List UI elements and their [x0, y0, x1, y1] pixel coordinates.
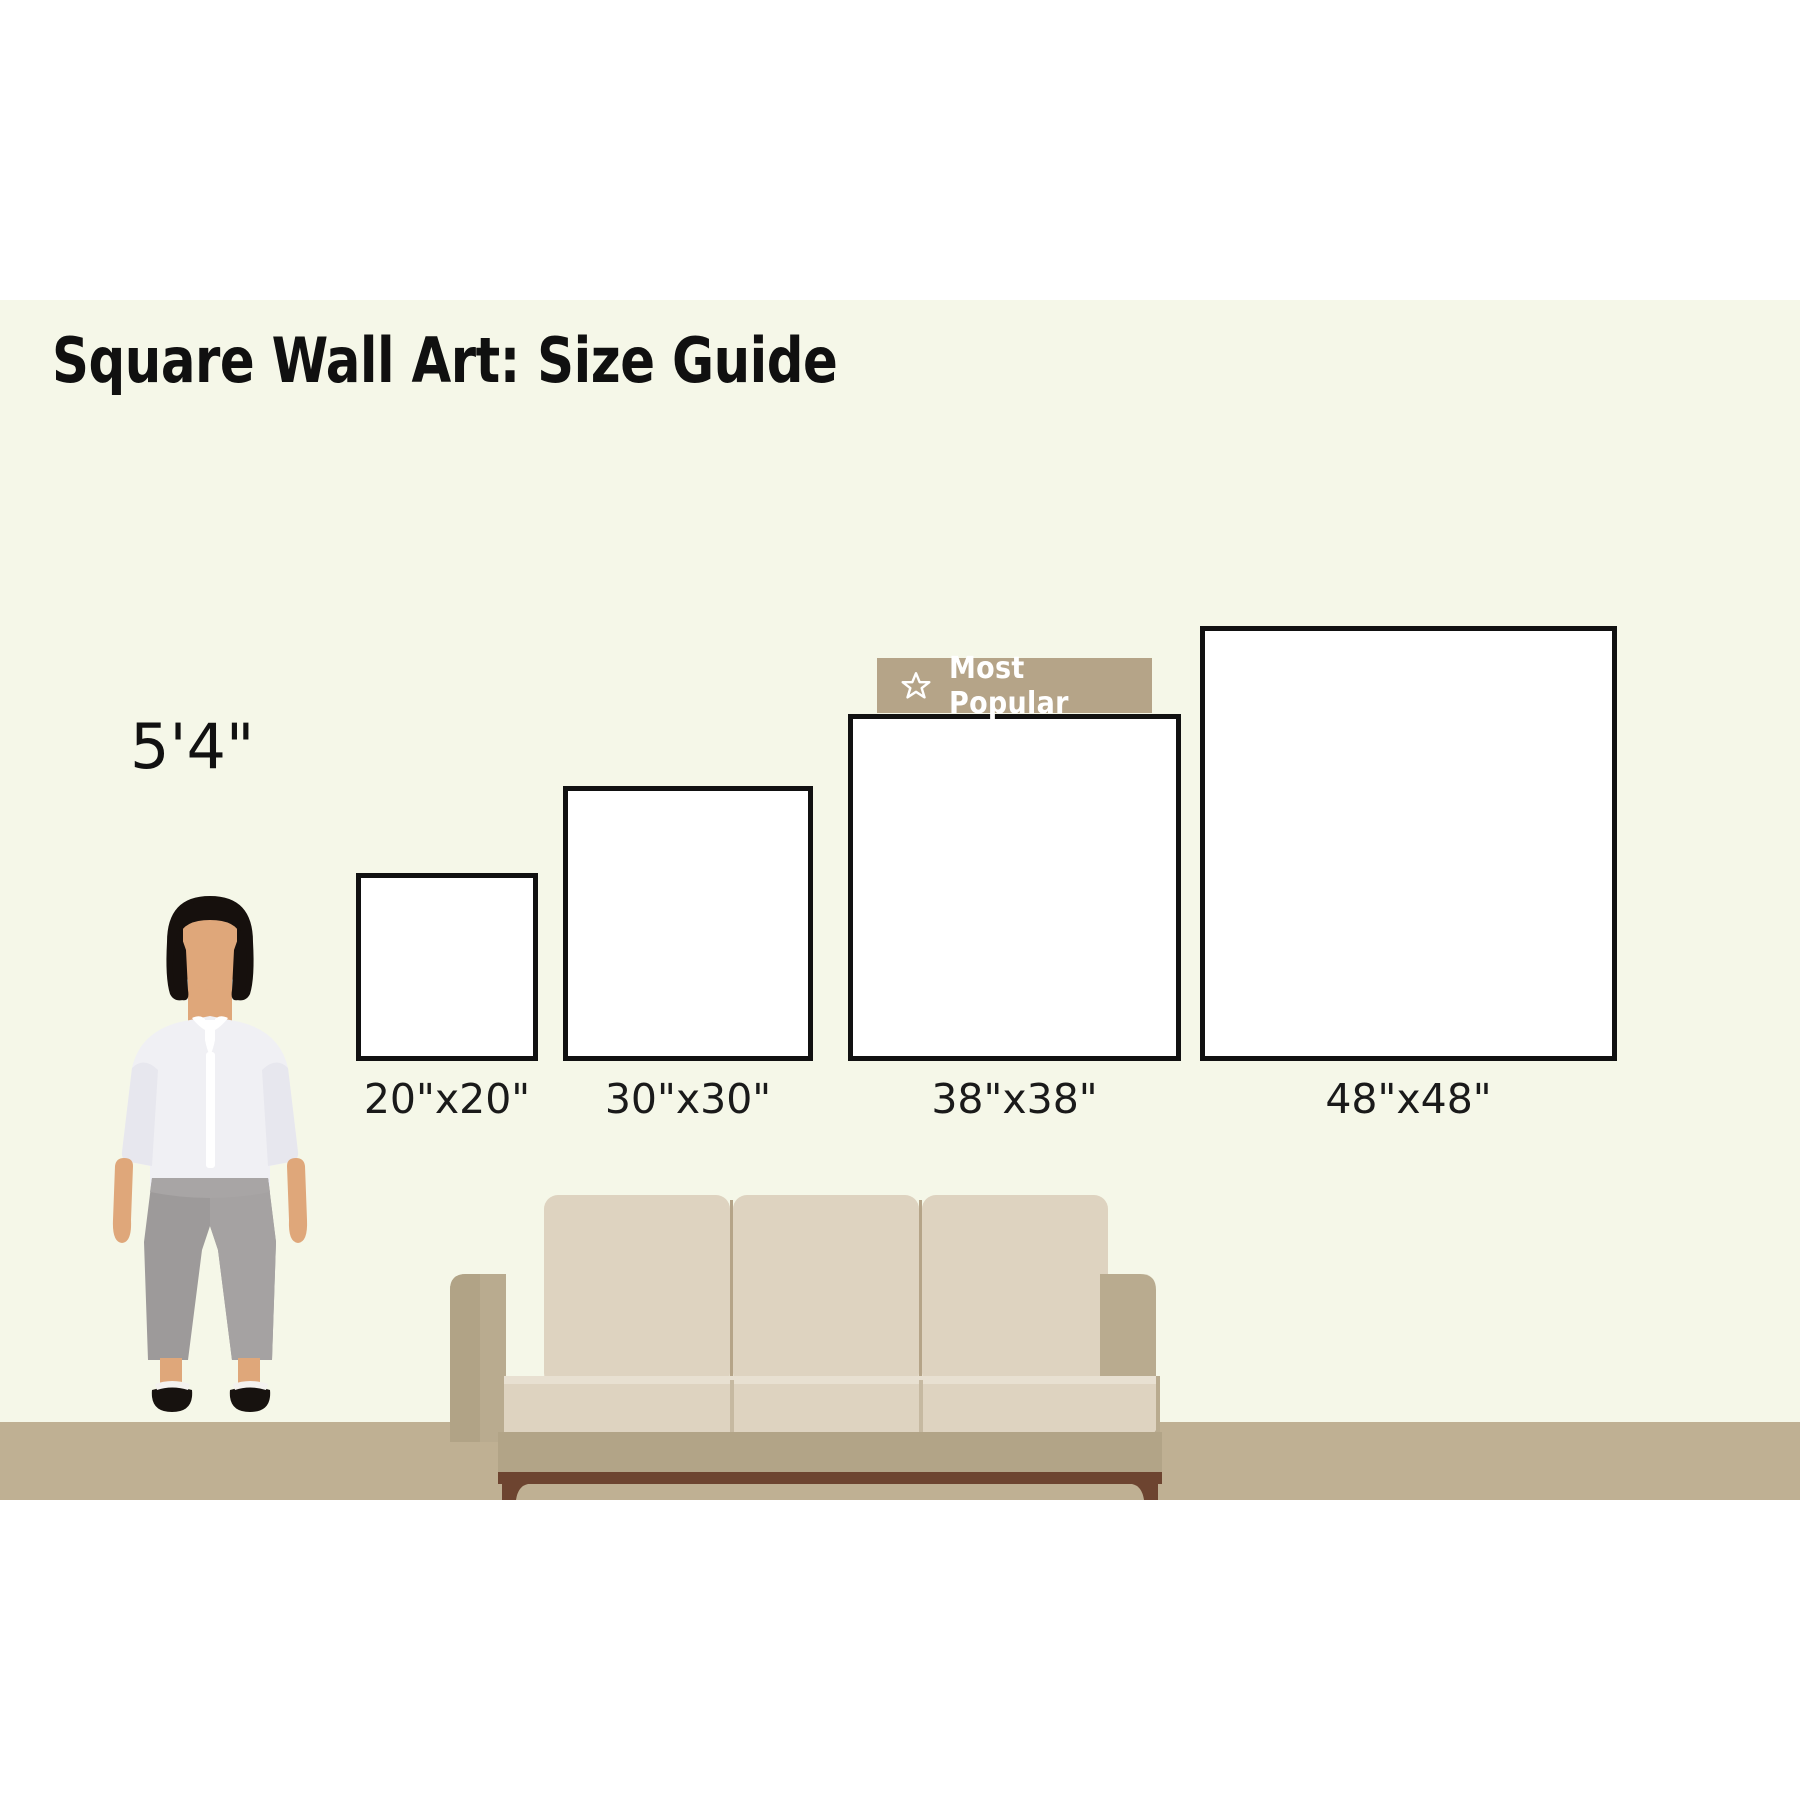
art-frame-30x30[interactable]	[563, 786, 813, 1061]
most-popular-badge-label: Most Popular	[949, 651, 1152, 721]
person-height-label: 5'4"	[130, 710, 254, 783]
art-frame-label-48x48: 48"x48"	[1200, 1075, 1617, 1123]
most-popular-badge[interactable]: Most Popular	[877, 658, 1152, 713]
art-frame-label-30x30: 30"x30"	[563, 1075, 813, 1123]
page-title: Square Wall Art: Size Guide	[52, 324, 837, 397]
art-frame-38x38[interactable]	[848, 714, 1181, 1061]
art-frame-label-38x38: 38"x38"	[848, 1075, 1181, 1123]
size-guide-canvas: Square Wall Art: Size Guide 5'4"	[0, 0, 1800, 1800]
art-frame-label-20x20: 20"x20"	[356, 1075, 538, 1123]
star-outline-icon	[899, 669, 933, 703]
art-frame-20x20[interactable]	[356, 873, 538, 1061]
person-silhouette	[100, 890, 320, 1430]
room-scene: Square Wall Art: Size Guide 5'4"	[0, 300, 1800, 1500]
art-frame-48x48[interactable]	[1200, 626, 1617, 1061]
three-seat-sofa	[440, 1180, 1230, 1500]
